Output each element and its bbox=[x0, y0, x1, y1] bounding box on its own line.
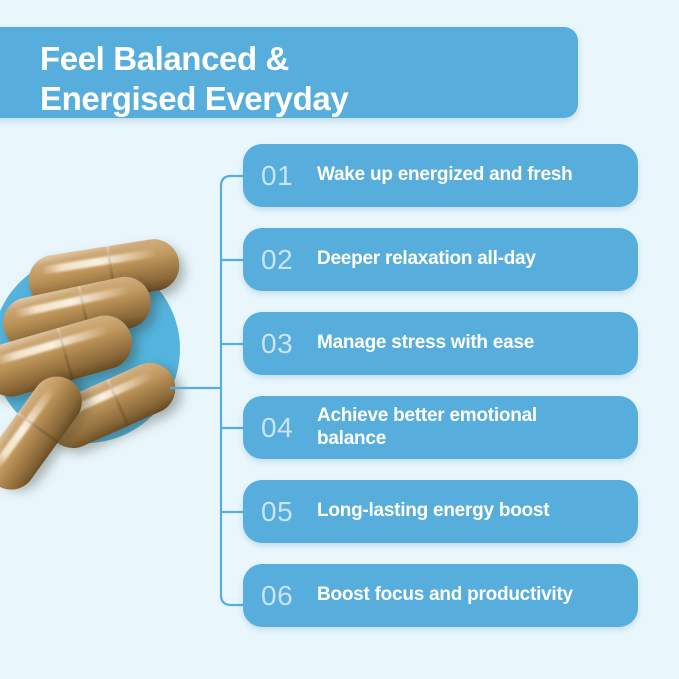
benefits-list: 01 Wake up energized and fresh 02 Deeper… bbox=[243, 144, 638, 627]
list-item[interactable]: 06 Boost focus and productivity bbox=[243, 564, 638, 627]
benefit-number: 03 bbox=[261, 330, 309, 358]
list-item[interactable]: 04 Achieve better emotional balance bbox=[243, 396, 638, 459]
benefit-label: Achieve better emotional balance bbox=[317, 405, 537, 450]
benefit-number: 06 bbox=[261, 582, 309, 610]
page-title: Feel Balanced & Energised Everyday bbox=[40, 39, 560, 119]
list-item[interactable]: 05 Long-lasting energy boost bbox=[243, 480, 638, 543]
benefit-label: Boost focus and productivity bbox=[317, 584, 573, 606]
benefit-label: Long-lasting energy boost bbox=[317, 500, 549, 522]
infographic-canvas: Feel Balanced & Energised Everyday bbox=[0, 0, 679, 679]
list-item[interactable]: 03 Manage stress with ease bbox=[243, 312, 638, 375]
product-photo bbox=[0, 225, 215, 535]
benefit-number: 05 bbox=[261, 498, 309, 526]
list-item[interactable]: 02 Deeper relaxation all-day bbox=[243, 228, 638, 291]
benefit-label: Wake up energized and fresh bbox=[317, 164, 572, 186]
benefit-label: Manage stress with ease bbox=[317, 332, 534, 354]
benefit-number: 04 bbox=[261, 414, 309, 442]
benefit-number: 01 bbox=[261, 162, 309, 190]
list-item[interactable]: 01 Wake up energized and fresh bbox=[243, 144, 638, 207]
benefit-label: Deeper relaxation all-day bbox=[317, 248, 536, 270]
benefit-number: 02 bbox=[261, 246, 309, 274]
header-banner: Feel Balanced & Energised Everyday bbox=[0, 27, 578, 118]
